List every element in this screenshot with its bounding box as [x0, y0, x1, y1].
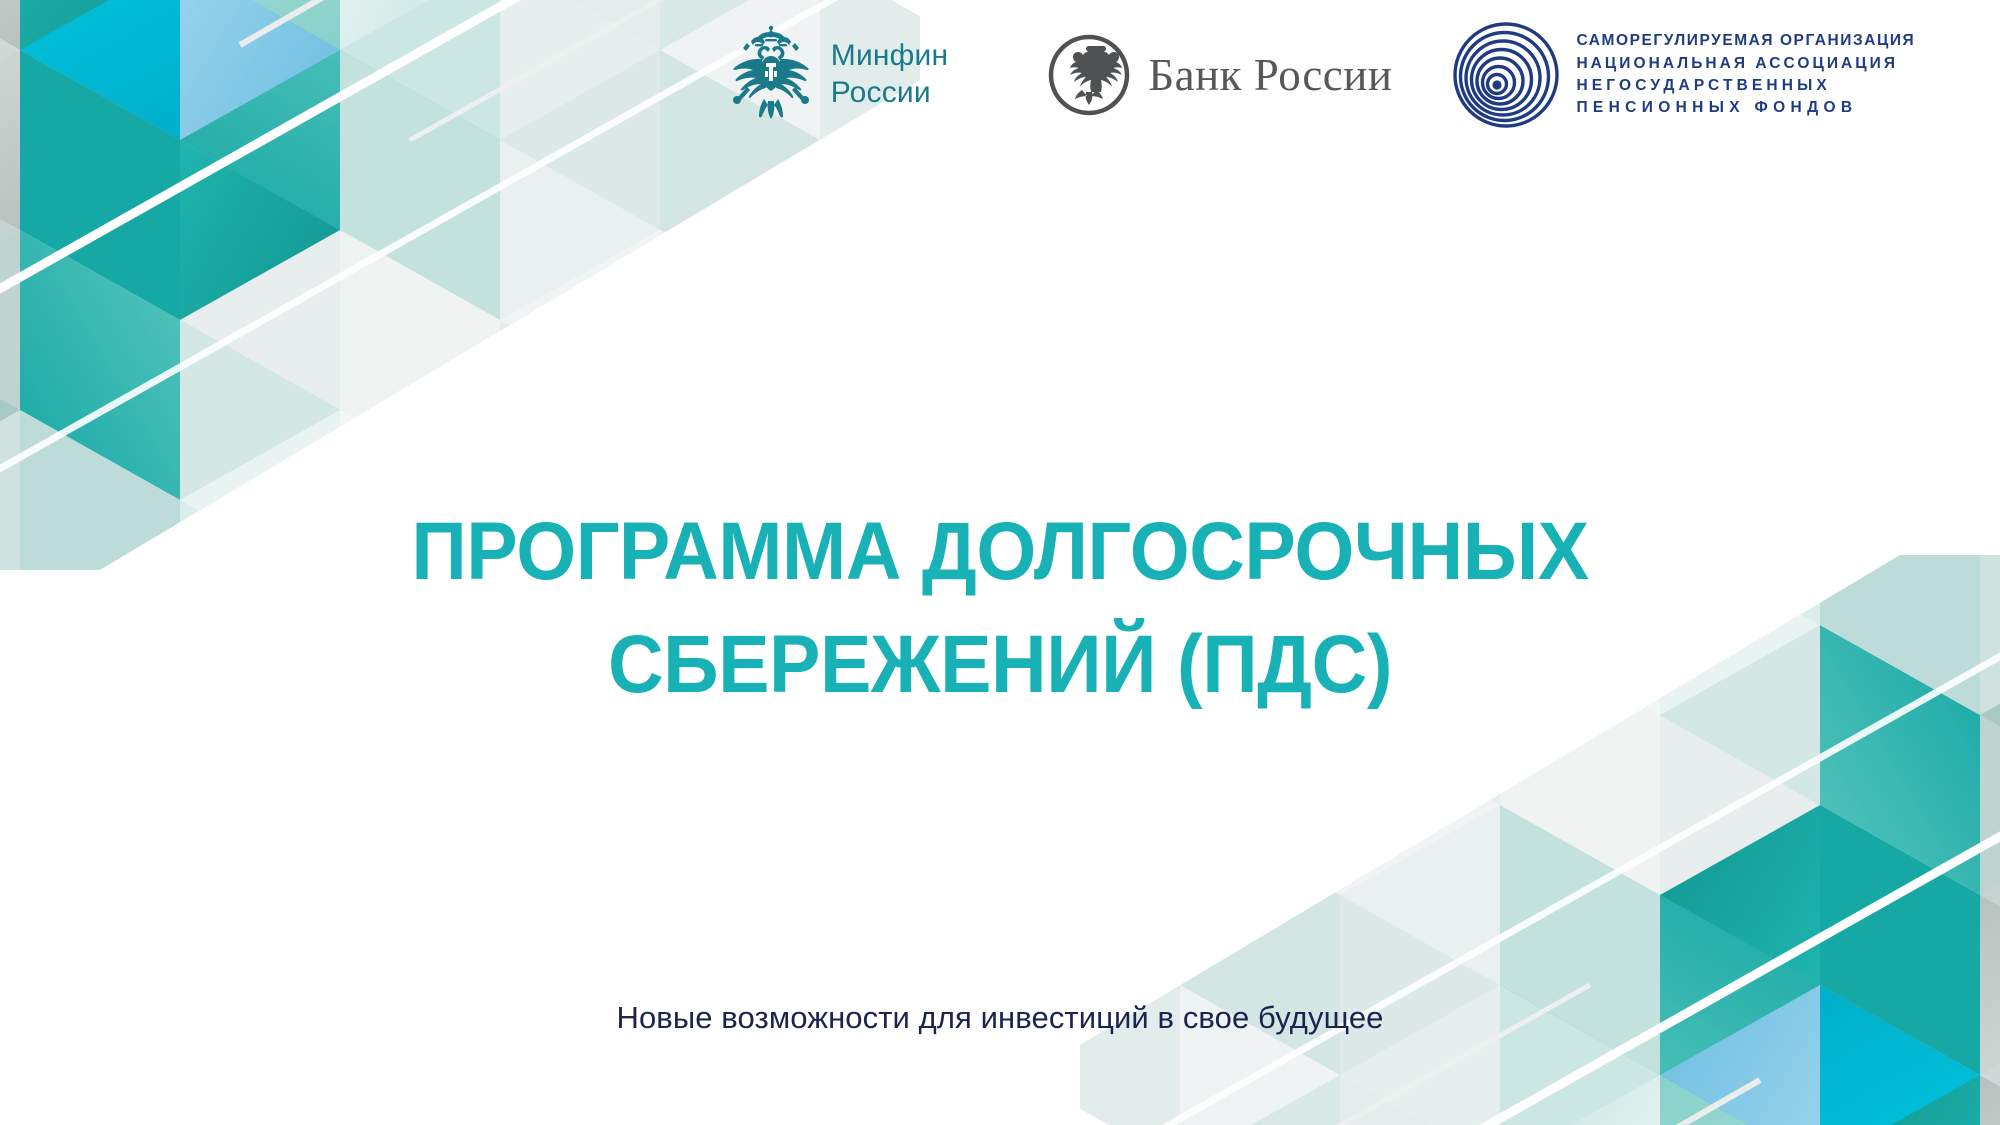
logo-bank-of-russia: Банк России: [1048, 34, 1392, 116]
logo-napf-line1: САМОРЕГУЛИРУЕМАЯ ОРГАНИЗАЦИЯ: [1576, 32, 1915, 49]
logo-napf-line3: НЕГОСУДАРСТВЕННЫХ: [1576, 77, 1830, 94]
logo-napf-text: САМОРЕГУЛИРУЕМАЯ ОРГАНИЗАЦИЯ НАЦИОНАЛЬНА…: [1576, 30, 1915, 120]
russian-double-headed-eagle-icon: [725, 25, 817, 125]
logo-bank-of-russia-text: Банк России: [1148, 49, 1392, 101]
napf-spiral-icon: [1452, 21, 1560, 129]
slide-title-line1: ПРОГРАММА ДОЛГОСРОЧНЫХ: [60, 495, 1940, 608]
bank-of-russia-emblem-icon: [1048, 34, 1130, 116]
logo-napf-line2: НАЦИОНАЛЬНАЯ АССОЦИАЦИЯ: [1576, 55, 1898, 72]
logo-minfin-rossii: Минфин России: [725, 25, 949, 125]
presentation-slide: Минфин России Банк России: [0, 0, 2000, 1125]
slide-title-line2: СБЕРЕЖЕНИЙ (ПДС): [60, 608, 1940, 721]
logo-minfin-line2: России: [831, 76, 931, 109]
partner-logo-strip: Минфин России Банк России: [0, 0, 2000, 150]
slide-title: ПРОГРАММА ДОЛГОСРОЧНЫХ СБЕРЕЖЕНИЙ (ПДС): [60, 495, 1940, 721]
logo-minfin-text: Минфин России: [831, 38, 949, 111]
logo-napf: САМОРЕГУЛИРУЕМАЯ ОРГАНИЗАЦИЯ НАЦИОНАЛЬНА…: [1452, 21, 1915, 129]
logo-napf-line4: ПЕНСИОННЫХ ФОНДОВ: [1576, 99, 1857, 116]
logo-minfin-line1: Минфин: [831, 39, 949, 72]
slide-subtitle: Новые возможности для инвестиций в свое …: [0, 1000, 2000, 1036]
